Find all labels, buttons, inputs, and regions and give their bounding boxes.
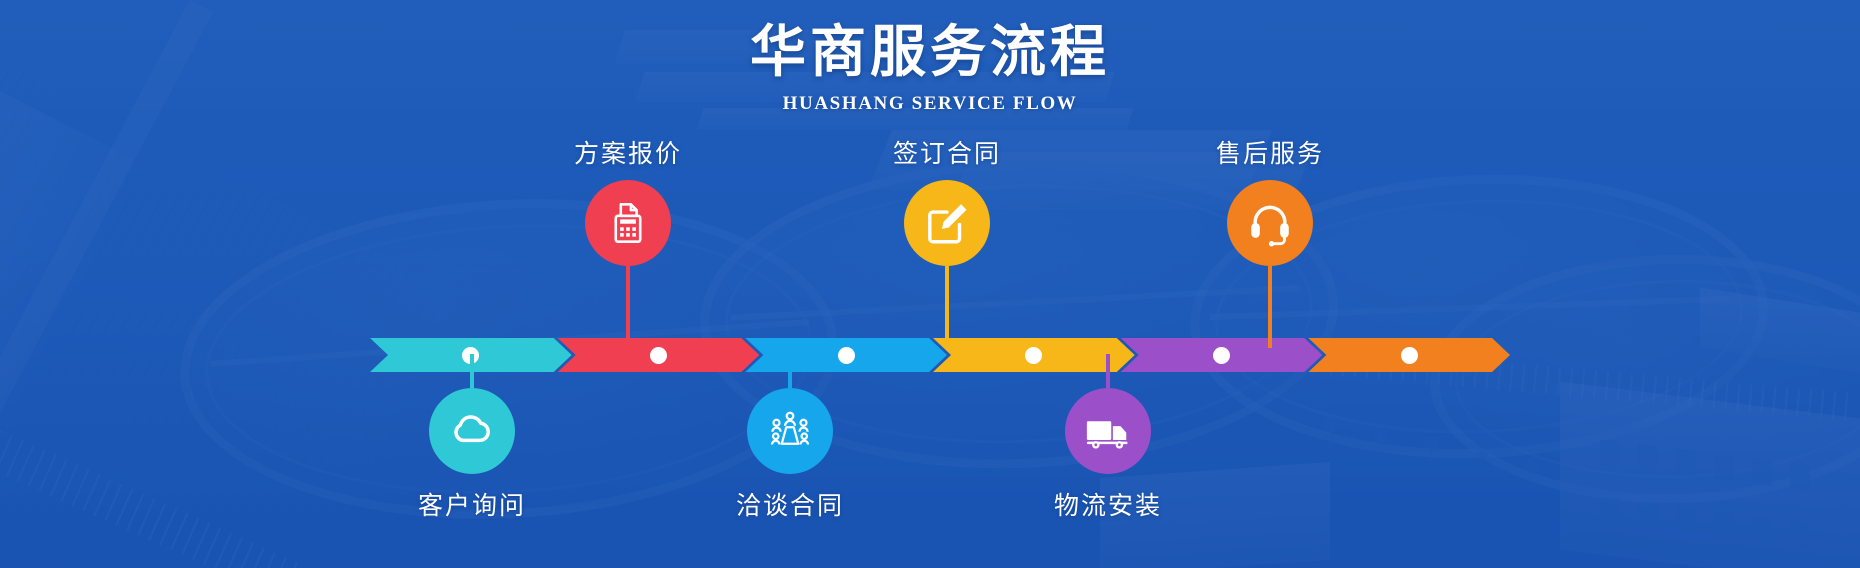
- flow-step-connector: [626, 266, 630, 348]
- flow-step-label: 物流安装: [1008, 486, 1208, 522]
- flow-step-connector: [470, 354, 474, 388]
- flow-step-label: 签订合同: [847, 134, 1047, 170]
- flow-step-3[interactable]: 洽谈合同: [690, 354, 890, 522]
- flow-step-2[interactable]: 方案报价: [528, 134, 728, 348]
- flow-step-connector: [1106, 354, 1110, 388]
- flow-step-5[interactable]: 物流安装: [1008, 354, 1208, 522]
- meeting-table-icon[interactable]: [747, 388, 833, 474]
- delivery-truck-icon[interactable]: [1065, 388, 1151, 474]
- service-flow-banner: 华商服务流程 HUASHANG SERVICE FLOW: [0, 0, 1860, 568]
- flow-step-label: 洽谈合同: [690, 486, 890, 522]
- flow-step-6[interactable]: 售后服务: [1170, 134, 1370, 348]
- pen-sign-icon[interactable]: [904, 180, 990, 266]
- flow-step-label: 售后服务: [1170, 134, 1370, 170]
- flow-step-connector: [788, 354, 792, 388]
- flow-chevron-dot: [650, 347, 667, 364]
- page-subtitle: HUASHANG SERVICE FLOW: [0, 93, 1860, 115]
- page-title: 华商服务流程: [0, 18, 1860, 85]
- flow-step-label: 方案报价: [528, 134, 728, 170]
- flow-step-connector: [1268, 266, 1272, 348]
- cloud-chat-icon[interactable]: [429, 388, 515, 474]
- flow-chevron-dot: [1213, 347, 1230, 364]
- flow-step-1[interactable]: 客户询问: [372, 354, 572, 522]
- flow-step-connector: [945, 266, 949, 348]
- flow-step-4[interactable]: 签订合同: [847, 134, 1047, 348]
- flow-step-label: 客户询问: [372, 486, 572, 522]
- headset-support-icon[interactable]: [1227, 180, 1313, 266]
- flow-chevron-dot: [1401, 347, 1418, 364]
- banner-header: 华商服务流程 HUASHANG SERVICE FLOW: [0, 18, 1860, 115]
- receipt-calculator-icon[interactable]: [585, 180, 671, 266]
